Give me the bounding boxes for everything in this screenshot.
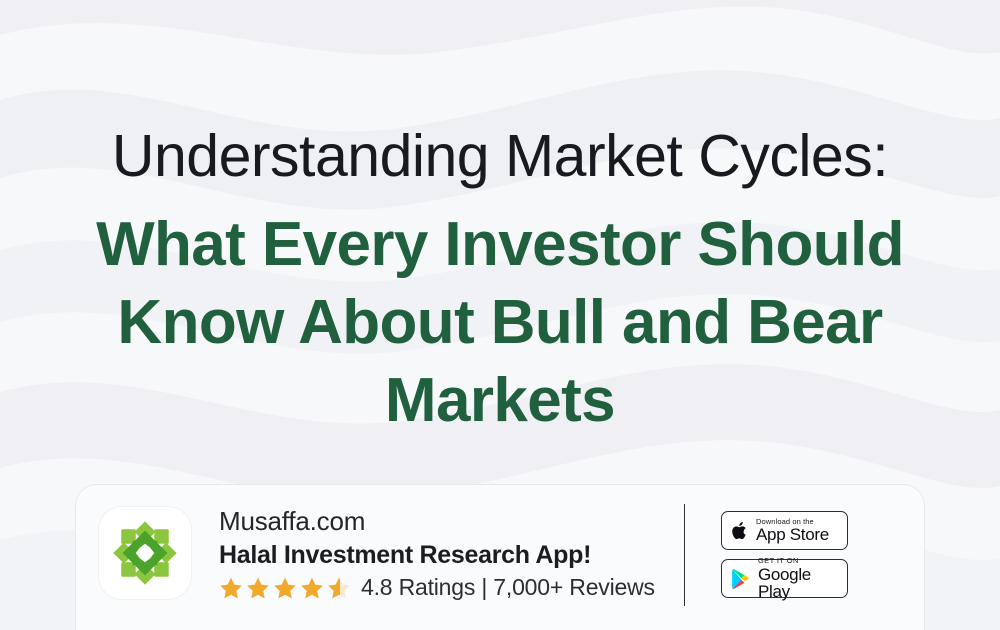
store-badges: Download on the App Store GET IT ON Goog… (721, 511, 848, 598)
app-store-badge-small-label: Download on the (756, 518, 829, 526)
app-icon-tile (98, 506, 192, 600)
google-play-badge[interactable]: GET IT ON Google Play (721, 559, 848, 598)
article-title-prefix: Understanding Market Cycles: (0, 118, 1000, 194)
rating-text: 4.8 Ratings | 7,000+ Reviews (361, 574, 655, 601)
brand-text-block: Musaffa.com Halal Investment Research Ap… (219, 503, 655, 601)
musaffa-star-logo-icon (112, 520, 178, 586)
apple-logo-icon (731, 520, 749, 542)
google-play-icon (731, 568, 751, 590)
article-title-main: What Every Investor Should Know About Bu… (0, 206, 1000, 440)
app-store-badge-big-label: App Store (756, 526, 829, 543)
star-rating (219, 575, 353, 601)
rating-row: 4.8 Ratings | 7,000+ Reviews (219, 574, 655, 601)
app-store-badge-text: Download on the App Store (756, 518, 829, 544)
cover-canvas: Understanding Market Cycles: What Every … (0, 0, 1000, 630)
headline-block: Understanding Market Cycles: What Every … (0, 0, 1000, 440)
app-store-badge[interactable]: Download on the App Store (721, 511, 848, 550)
app-promo-card: Musaffa.com Halal Investment Research Ap… (75, 484, 925, 630)
card-divider (684, 504, 685, 606)
google-play-badge-text: GET IT ON Google Play (758, 557, 847, 600)
brand-tagline: Halal Investment Research App! (219, 539, 655, 572)
brand-name: Musaffa.com (219, 505, 655, 538)
google-play-badge-small-label: GET IT ON (758, 557, 847, 565)
google-play-badge-big-label: Google Play (758, 566, 847, 600)
